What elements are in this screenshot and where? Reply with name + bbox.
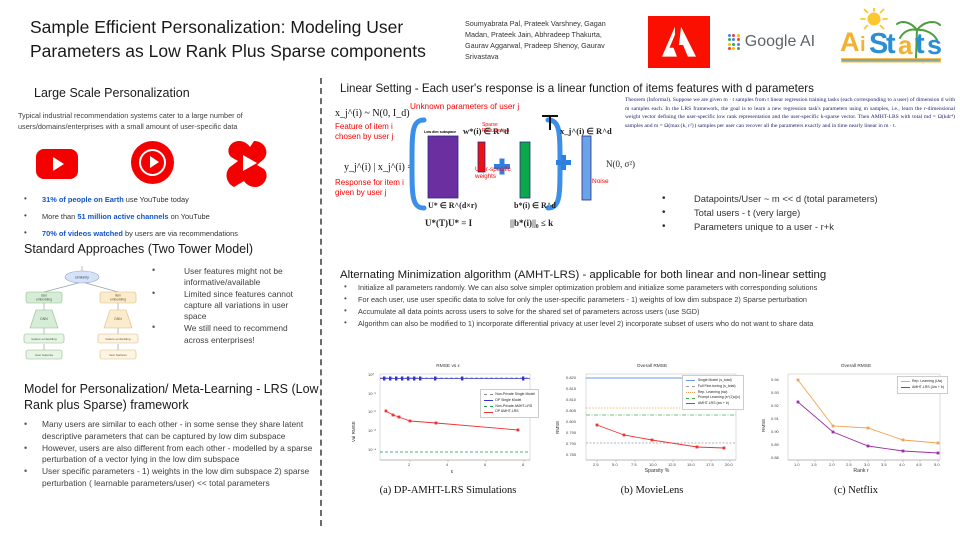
adobe-logo bbox=[648, 16, 710, 68]
chart-a-ytick-2: 10⁻² bbox=[368, 409, 376, 414]
list-item: Initialize all parameters randomly. We c… bbox=[330, 282, 960, 294]
chart-movielens: Overall RMSE RMSE bbox=[552, 364, 752, 496]
bullet-highlight: 31% of people on Earth bbox=[42, 195, 124, 204]
large-scale-bullets: 31% of people on Earth use YouTube today… bbox=[18, 195, 310, 239]
list-item: User specific parameters - 1) weights in… bbox=[18, 466, 320, 489]
chart-c-ytick-5: 0.89 bbox=[771, 442, 779, 447]
results-charts: RMSE vs ε Val RMSE bbox=[340, 364, 960, 514]
chart-b-ytick-6: 0.790 bbox=[566, 441, 576, 446]
bullet-highlight: 51 million active channels bbox=[77, 212, 168, 221]
list-item: More than 51 million active channels on … bbox=[18, 212, 310, 222]
equation-x-vector: x_j^(i) ∈ R^d bbox=[560, 126, 612, 137]
chart-a-xtick-0: 2 bbox=[408, 462, 410, 467]
chart-a-ytick-4: 10⁻⁴ bbox=[368, 447, 376, 452]
list-item: 70% of videos watched by users are via r… bbox=[18, 229, 310, 239]
lrs-framework-section: Model for Personalization/ Meta-Learning… bbox=[18, 382, 320, 505]
list-item: Many users are similar to each other - i… bbox=[18, 419, 320, 442]
page-title: Sample Efficient Personalization: Modeli… bbox=[30, 16, 440, 63]
chart-c-ytick-4: 0.90 bbox=[771, 429, 779, 434]
chart-b-ytick-2: 0.810 bbox=[566, 397, 576, 402]
list-item: Limited since features cannot capture al… bbox=[150, 289, 310, 322]
linear-setting-section: Linear Setting - Each user's response is… bbox=[330, 82, 960, 96]
chart-a-ytick-3: 10⁻³ bbox=[368, 428, 376, 433]
list-item: 31% of people on Earth use YouTube today bbox=[18, 195, 310, 205]
chart-b-ytick-7: 0.785 bbox=[566, 452, 576, 457]
chart-c-title: Overall RMSE bbox=[756, 364, 956, 369]
label-user-specific-weights: User-specific weights bbox=[475, 166, 513, 181]
chart-b-legend: Single Model (s_total) Full Fine-tuning … bbox=[682, 375, 744, 410]
linear-equation-figure: x_j^(i) ~ N(0, I_d) Feature of item i ch… bbox=[330, 104, 660, 244]
aistats-logo: A i S t a t s bbox=[836, 8, 954, 70]
chart-c-ytick-1: 0.93 bbox=[771, 390, 779, 395]
chart-a-legend: Non-Private Single Model DP Single Model… bbox=[480, 389, 539, 418]
svg-text:t: t bbox=[915, 28, 925, 60]
chart-c-caption: (c) Netflix bbox=[756, 485, 956, 496]
equation-orthonormal: U*(T)U* = I bbox=[425, 218, 472, 228]
legend-label: AMHT-LRS (sw + b) bbox=[698, 401, 729, 407]
chart-b-xtick-5: 15.0 bbox=[687, 462, 695, 467]
label-sparse-perturbation: Sparse Perturbation bbox=[482, 123, 514, 134]
standard-approaches-section: Standard Approaches (Two Tower Model) bbox=[18, 242, 318, 258]
section-heading-large-scale: Large Scale Personalization bbox=[34, 86, 310, 102]
google-ai-logo: Google AI bbox=[728, 30, 815, 54]
svg-text:t: t bbox=[886, 28, 896, 60]
chart-netflix: Overall RMSE RMSE bbox=[756, 364, 956, 496]
two-tower-diagram: similarity user embedding item embedding… bbox=[18, 262, 146, 366]
label-unknown-params: Unknown parameters of user j bbox=[410, 102, 570, 113]
amht-bullets: Initialize all parameters randomly. We c… bbox=[330, 282, 960, 329]
chart-b-ytick-4: 0.800 bbox=[566, 419, 576, 424]
column-divider bbox=[320, 78, 322, 526]
legend-label: AMHT-LRS (Uw + b) bbox=[912, 385, 944, 391]
svg-text:Item features: Item features bbox=[109, 353, 127, 357]
list-item: For each user, use user specific data to… bbox=[330, 294, 960, 306]
section-heading-amht: Alternating Minimization algorithm (AMHT… bbox=[340, 268, 960, 282]
svg-text:a: a bbox=[898, 30, 913, 60]
poster-canvas: Sample Efficient Personalization: Modeli… bbox=[0, 0, 960, 540]
svg-text:embedding: embedding bbox=[110, 298, 126, 302]
list-item: User features might not be informative/a… bbox=[150, 266, 310, 288]
list-item: However, users are also different from e… bbox=[18, 443, 320, 466]
youtube-icon bbox=[36, 149, 78, 179]
chart-a-caption: (a) DP-AMHT-LRS Simulations bbox=[348, 485, 548, 496]
note-feature: Feature of item i chosen by user j bbox=[335, 122, 407, 143]
bullet-pre: More than bbox=[42, 212, 77, 221]
chart-a-xtick-3: 8 bbox=[522, 462, 524, 467]
chart-b-ytick-0: 0.820 bbox=[566, 375, 576, 380]
chart-b-xtick-0: 2.5 bbox=[593, 462, 599, 467]
legend-label: DP AMHT-LRS bbox=[495, 409, 518, 415]
label-noise: Noise bbox=[592, 178, 609, 186]
equation-U-dims: U* ∈ R^(d×r) bbox=[428, 201, 477, 210]
chart-b-ytick-1: 0.815 bbox=[566, 386, 576, 391]
svg-text:embedding: embedding bbox=[36, 298, 52, 302]
chart-a-xtick-1: 4 bbox=[446, 462, 448, 467]
theorem-text: Theorem (Informal). Suppose we are given… bbox=[625, 96, 955, 130]
chart-b-xtick-4: 12.5 bbox=[668, 462, 676, 467]
chart-c-xtick-1: 1.5 bbox=[811, 462, 817, 467]
large-scale-personalization-section: Large Scale Personalization Typical indu… bbox=[18, 86, 310, 255]
svg-text:similarity: similarity bbox=[75, 276, 89, 280]
chart-a-ytick-0: 10⁰ bbox=[368, 372, 374, 377]
chart-c-ytick-0: 0.94 bbox=[771, 377, 779, 382]
chart-c-ytick-6: 0.88 bbox=[771, 455, 779, 460]
chart-c-xtick-0: 1.0 bbox=[794, 462, 800, 467]
svg-text:feature embedding: feature embedding bbox=[31, 337, 56, 341]
equation-sparsity-constraint: ||b*(i)||₀ ≤ k bbox=[510, 218, 553, 228]
note-response: Response for item i given by user j bbox=[335, 178, 413, 199]
chart-b-xtick-3: 10.0 bbox=[649, 462, 657, 467]
svg-text:S: S bbox=[869, 28, 888, 60]
standard-approaches-bullets: User features might not be informative/a… bbox=[150, 266, 310, 347]
list-item: Accumulate all data points across users … bbox=[330, 306, 960, 318]
equation-feature: x_j^(i) ~ N(0, I_d) bbox=[335, 108, 410, 119]
chart-c-ytick-2: 0.92 bbox=[771, 403, 779, 408]
label-low-dim-subspace: Low dim subspace bbox=[424, 130, 456, 134]
chart-c-xlabel: Rank r bbox=[836, 468, 886, 474]
chart-a-xlabel: ε bbox=[432, 469, 472, 475]
svg-text:A: A bbox=[840, 27, 860, 57]
svg-text:i: i bbox=[860, 34, 866, 56]
section-heading-standard-approaches: Standard Approaches (Two Tower Model) bbox=[24, 242, 318, 258]
author-list: Soumyabrata Pal, Prateek Varshney, Gagan… bbox=[465, 18, 615, 63]
chart-c-xtick-7: 4.5 bbox=[916, 462, 922, 467]
chart-a-ytick-1: 10⁻¹ bbox=[368, 391, 376, 396]
bullet-highlight: 70% of videos watched bbox=[42, 229, 123, 238]
chart-b-ytick-5: 0.795 bbox=[566, 430, 576, 435]
chart-b-xtick-7: 20.0 bbox=[725, 462, 733, 467]
chart-c-xtick-2: 2.0 bbox=[829, 462, 835, 467]
svg-text:User features: User features bbox=[35, 353, 54, 357]
chart-dp-amht-lrs-simulations: RMSE vs ε Val RMSE bbox=[348, 364, 548, 496]
large-scale-subtitle: Typical industrial recommendation system… bbox=[18, 110, 310, 133]
equation-response: y_j^(i) | x_j^(i) = bbox=[344, 162, 413, 173]
chart-c-ytick-3: 0.91 bbox=[771, 416, 779, 421]
legend-entry: AMHT-LRS (Uw + b) bbox=[901, 385, 945, 391]
youtube-music-icon bbox=[131, 141, 174, 184]
google-dots-icon bbox=[728, 34, 740, 50]
chart-b-plot-area: Overall RMSE RMSE bbox=[552, 364, 752, 482]
equation-b-dims: b*(i) ∈ R^d bbox=[514, 201, 556, 210]
list-item: Total users - t (very large) bbox=[660, 206, 878, 220]
legend-entry: AMHT-LRS (sw + b) bbox=[686, 401, 740, 407]
chart-c-xtick-3: 2.5 bbox=[846, 462, 852, 467]
amht-algorithm-section: Alternating Minimization algorithm (AMHT… bbox=[330, 268, 960, 330]
chart-b-xtick-1: 5.0 bbox=[612, 462, 618, 467]
section-heading-linear-setting: Linear Setting - Each user's response is… bbox=[340, 82, 960, 96]
chart-b-title: Overall RMSE bbox=[552, 364, 752, 369]
chart-b-ytick-3: 0.805 bbox=[566, 408, 576, 413]
chart-c-ylabel: RMSE bbox=[761, 419, 766, 432]
chart-c-xtick-4: 3.0 bbox=[864, 462, 870, 467]
svg-text:DNN: DNN bbox=[40, 317, 48, 321]
youtube-icon-row bbox=[18, 137, 310, 193]
chart-c-xtick-5: 3.5 bbox=[881, 462, 887, 467]
chart-b-xlabel: Sparsity % bbox=[627, 468, 687, 474]
chart-a-title: RMSE vs ε bbox=[348, 364, 548, 369]
list-item: Algorithm can also be modified to 1) inc… bbox=[330, 318, 960, 330]
svg-text:DNN: DNN bbox=[114, 317, 122, 321]
google-ai-label: Google AI bbox=[745, 33, 815, 51]
chart-c-xtick-6: 4.0 bbox=[899, 462, 905, 467]
list-item: Datapoints/User ~ m << d (total paramete… bbox=[660, 192, 878, 206]
svg-text:feature embedding: feature embedding bbox=[105, 337, 130, 341]
bullet-rest: use YouTube today bbox=[124, 195, 189, 204]
list-item: Parameters unique to a user - r+k bbox=[660, 220, 878, 234]
equation-noise: N(0, σ²) bbox=[606, 159, 635, 169]
svg-text:s: s bbox=[927, 30, 942, 60]
chart-b-xtick-6: 17.5 bbox=[706, 462, 714, 467]
chart-a-xtick-2: 6 bbox=[484, 462, 486, 467]
bullet-rest: on YouTube bbox=[169, 212, 210, 221]
bullet-rest: by users are via recommendations bbox=[123, 229, 238, 238]
chart-a-plot-area: RMSE vs ε Val RMSE bbox=[348, 364, 548, 482]
chart-c-legend: Rep. Learning (Uw) AMHT-LRS (Uw + b) bbox=[897, 376, 949, 394]
section-heading-lrs: Model for Personalization/ Meta-Learning… bbox=[24, 382, 320, 413]
chart-b-caption: (b) MovieLens bbox=[552, 485, 752, 496]
adobe-a-icon bbox=[662, 26, 696, 58]
chart-a-ylabel: Val RMSE bbox=[351, 421, 356, 442]
chart-b-ylabel: RMSE bbox=[555, 421, 560, 434]
lrs-bullets: Many users are similar to each other - i… bbox=[18, 419, 320, 489]
youtube-shorts-icon bbox=[224, 139, 272, 189]
chart-b-xtick-2: 7.5 bbox=[631, 462, 637, 467]
chart-c-xtick-8: 5.0 bbox=[934, 462, 940, 467]
linear-setting-bullets: Datapoints/User ~ m << d (total paramete… bbox=[660, 192, 878, 234]
chart-c-plot-area: Overall RMSE RMSE bbox=[756, 364, 956, 482]
legend-entry: DP AMHT-LRS bbox=[484, 409, 535, 415]
list-item: We still need to recommend across enterp… bbox=[150, 323, 310, 345]
